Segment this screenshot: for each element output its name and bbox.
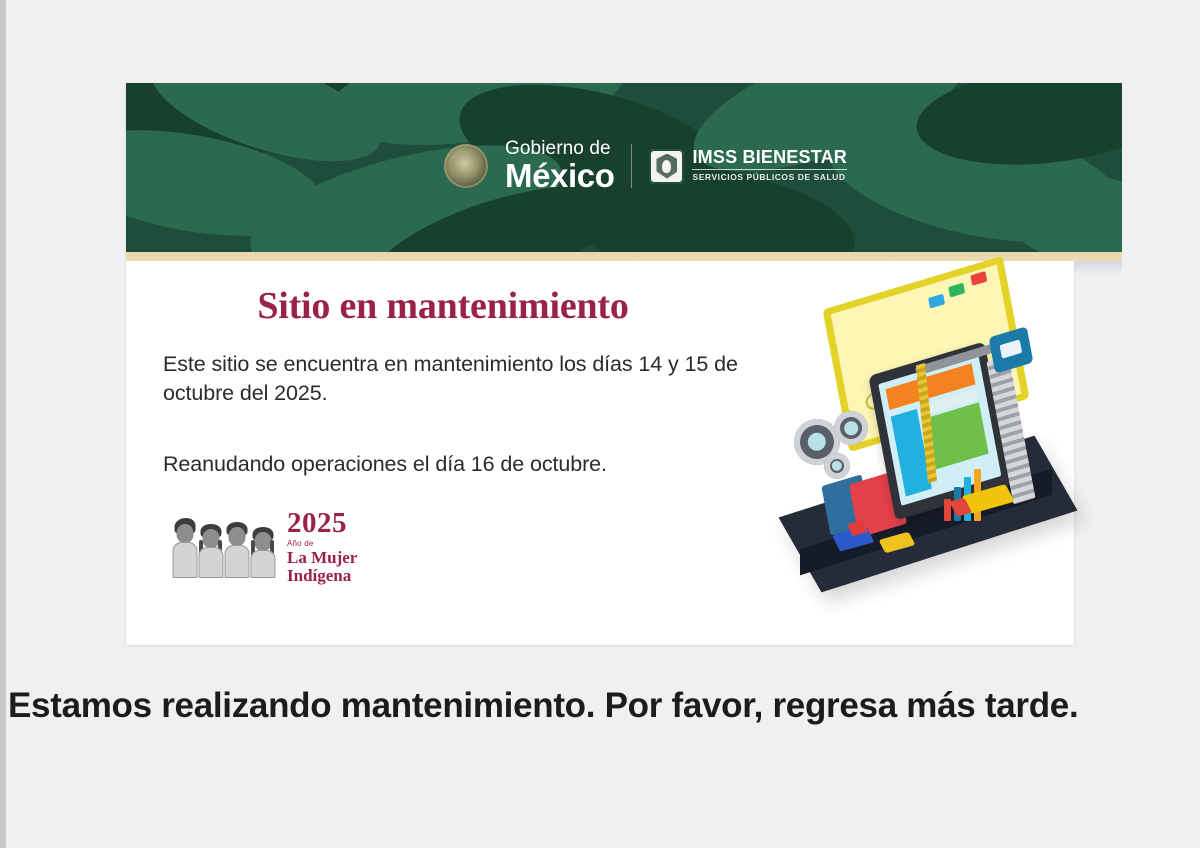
commemorative-line1: La Mujer xyxy=(287,549,357,567)
maintenance-notice: Estamos realizando mantenimiento. Por fa… xyxy=(8,684,1193,729)
gobierno-banner: Gobierno de México IMSS BIENESTAR SERVIC… xyxy=(126,83,1122,261)
maintenance-card: Gobierno de México IMSS BIENESTAR SERVIC… xyxy=(126,83,1074,645)
imss-title: IMSS BIENESTAR xyxy=(692,148,846,167)
banner-gold-strip xyxy=(126,252,1122,261)
window-dot-red-icon xyxy=(970,271,987,286)
imss-underline xyxy=(692,169,846,170)
commemorative-text: 2025 Año de La Mujer Indígena xyxy=(287,509,357,585)
window-dot-blue-icon xyxy=(928,294,945,309)
gear-icon xyxy=(834,411,868,445)
maintenance-paragraph-1: Este sitio se encuentra en mantenimiento… xyxy=(163,350,803,408)
imss-bienestar-logo: IMSS BIENESTAR SERVICIOS PÚBLICOS DE SAL… xyxy=(649,148,846,184)
window-dot-green-icon xyxy=(948,283,965,298)
page-title: Sitio en mantenimiento xyxy=(163,284,723,328)
gear-icon xyxy=(824,453,850,479)
woman-figure xyxy=(250,516,275,578)
gobierno-line2: México xyxy=(505,159,614,192)
woman-figure xyxy=(198,516,223,578)
imss-eagle-mark-icon xyxy=(649,149,684,184)
gobierno-line1: Gobierno de xyxy=(505,139,614,158)
imss-subtitle: SERVICIOS PÚBLICOS DE SALUD xyxy=(692,172,846,182)
under-construction-illustration xyxy=(794,271,1064,611)
commemorative-prefix: Año de xyxy=(287,540,357,548)
mexican-eagle-seal-icon xyxy=(444,144,488,188)
logo-lockup: Gobierno de México IMSS BIENESTAR SERVIC… xyxy=(444,139,847,192)
woman-figure xyxy=(224,516,249,578)
commemorative-line2: Indígena xyxy=(287,567,357,585)
maintenance-paragraph-2: Reanudando operaciones el día 16 de octu… xyxy=(163,450,803,479)
gobierno-de-mexico-wordmark: Gobierno de México xyxy=(505,139,614,192)
maintenance-body: Sitio en mantenimiento Este sitio se enc… xyxy=(126,261,1074,645)
indigenous-women-illustration xyxy=(172,516,275,578)
woman-figure xyxy=(172,516,197,578)
window-edge-strip xyxy=(0,0,6,848)
commemorative-year: 2025 xyxy=(287,509,357,538)
commemorative-logo: 2025 Año de La Mujer Indígena xyxy=(172,509,357,585)
maintenance-text-block: Sitio en mantenimiento Este sitio se enc… xyxy=(163,284,803,478)
logo-divider xyxy=(631,144,632,188)
